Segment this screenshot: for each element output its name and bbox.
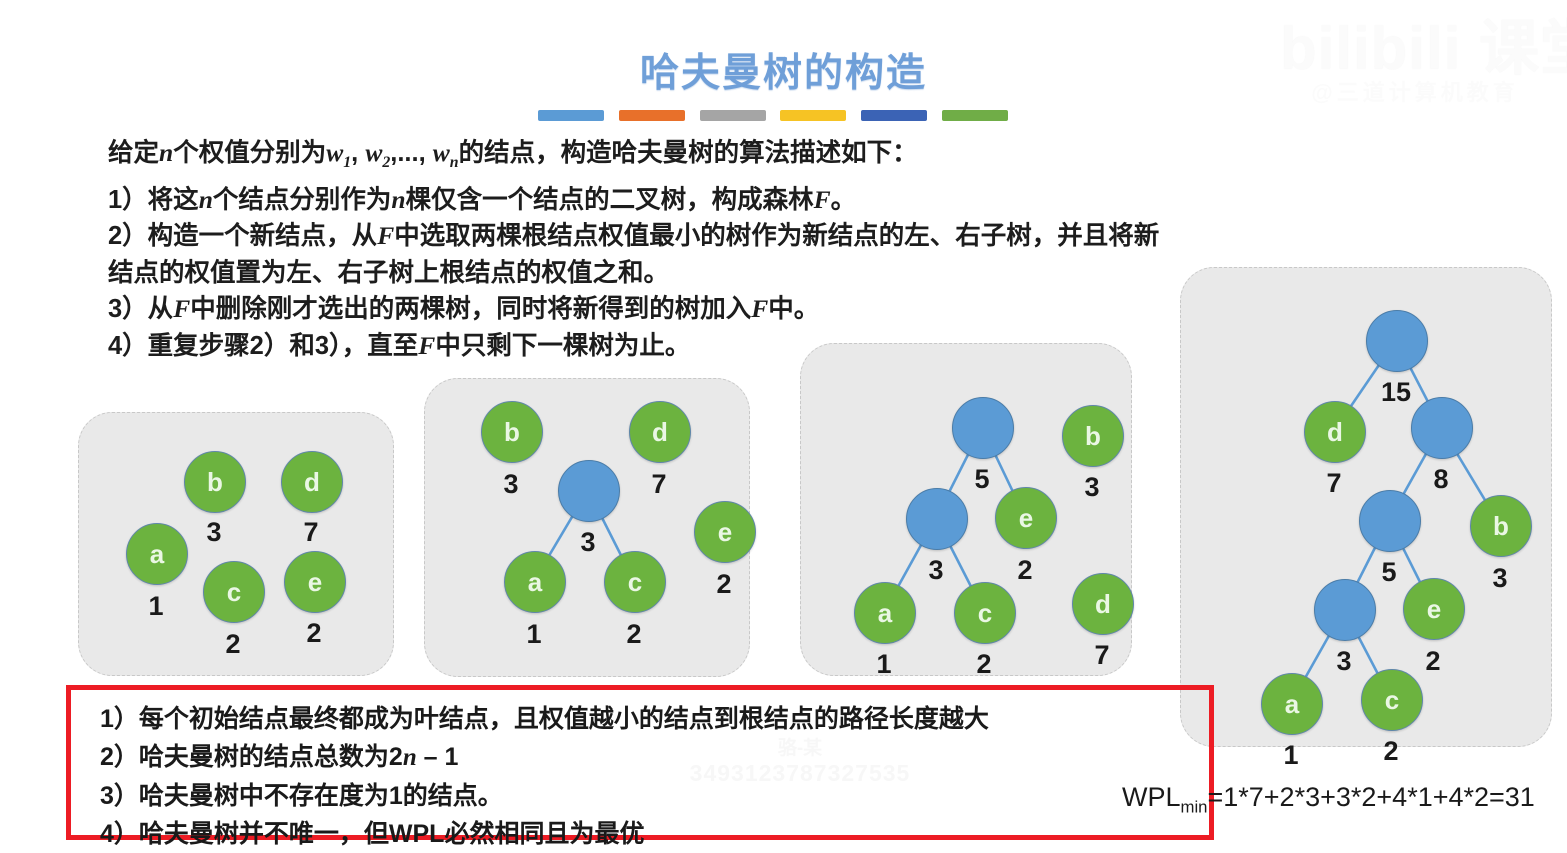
node-weight-label: 2 (606, 619, 662, 649)
tree-node-internal (1359, 490, 1421, 552)
node-weight-label: 7 (1074, 640, 1130, 670)
node-weight-label: 3 (560, 527, 616, 557)
conclusion-item-1: 1）每个初始结点最终都成为叶结点，且权值越小的结点到根结点的路径长度越大 (100, 700, 1220, 738)
node-weight-label: 7 (283, 517, 339, 547)
tree-panel-3: 5b33e2a1c2d7 (800, 343, 1132, 676)
accent-bar-3 (700, 110, 766, 121)
tree-node-internal (1314, 579, 1376, 641)
node-weight-label: 2 (1405, 646, 1461, 676)
conclusion-item-3: 3）哈夫曼树中不存在度为1的结点。 (100, 777, 1220, 815)
algorithm-step-1: 1）将这n个结点分别作为n棵仅含一个结点的二叉树，构成森林F。 (108, 182, 1428, 219)
wpl-formula: WPLmin=1*7+2*3+3*2+4*1+4*2=31 (1122, 782, 1535, 817)
tree-panel-4: 15d785b33e2a1c2 (1180, 267, 1552, 747)
node-weight-label: 1 (506, 619, 562, 649)
tree-node-a: a (1261, 673, 1323, 735)
tree-node-b: b (481, 401, 543, 463)
tree-node-internal (1366, 310, 1428, 372)
tree-node-e: e (995, 487, 1057, 549)
tree-node-a: a (126, 523, 188, 585)
tree-node-d: d (629, 401, 691, 463)
node-weight-label: 3 (483, 469, 539, 499)
wpl-expression: =1*7+2*3+3*2+4*1+4*2=31 (1207, 782, 1534, 812)
node-weight-label: 15 (1368, 377, 1424, 407)
tree-node-b: b (1470, 495, 1532, 557)
tree-node-d: d (281, 451, 343, 513)
node-weight-label: 5 (954, 464, 1010, 494)
tree-panel-2: b33d7e2a1c2 (424, 378, 750, 677)
tree-node-b: b (1062, 405, 1124, 467)
node-weight-label: 7 (631, 469, 687, 499)
tree-node-d: d (1072, 573, 1134, 635)
node-weight-label: 2 (696, 569, 752, 599)
slide-canvas: bilibili 课堂 @三道计算机教育 骆-某 349312378732753… (0, 0, 1567, 846)
node-weight-label: 3 (1064, 472, 1120, 502)
tree-node-internal (906, 488, 968, 550)
tree-node-e: e (284, 551, 346, 613)
accent-bar-1 (538, 110, 604, 121)
node-weight-label: 2 (286, 618, 342, 648)
tree-node-internal (952, 397, 1014, 459)
accent-bar-2 (619, 110, 685, 121)
page-title: 哈夫曼树的构造 (0, 42, 1567, 98)
tree-node-e: e (694, 501, 756, 563)
node-weight-label: 3 (1472, 563, 1528, 593)
node-weight-label: 2 (956, 649, 1012, 679)
node-weight-label: 5 (1361, 557, 1417, 587)
tree-node-c: c (203, 561, 265, 623)
accent-bar-group (538, 110, 1008, 122)
node-weight-label: 3 (908, 555, 964, 585)
tree-node-c: c (954, 582, 1016, 644)
tree-node-internal (558, 460, 620, 522)
tree-panel-1: a1b3c2d7e2 (78, 412, 394, 676)
node-weight-label: 7 (1306, 468, 1362, 498)
accent-bar-4 (780, 110, 846, 121)
node-weight-label: 1 (128, 591, 184, 621)
tree-node-c: c (604, 551, 666, 613)
tree-node-internal (1411, 397, 1473, 459)
conclusion-item-4: 4）哈夫曼树并不唯一，但WPL必然相同且为最优 (100, 815, 1220, 853)
node-weight-label: 3 (1316, 646, 1372, 676)
node-weight-label: 2 (1363, 736, 1419, 766)
tree-node-c: c (1361, 669, 1423, 731)
accent-bar-5 (861, 110, 927, 121)
algorithm-intro-line: 给定n个权值分别为w1, w2,..., wn的结点，构造哈夫曼树的算法描述如下… (108, 135, 1428, 182)
conclusion-list: 1）每个初始结点最终都成为叶结点，且权值越小的结点到根结点的路径长度越大 2）哈… (100, 700, 1220, 853)
tree-node-a: a (504, 551, 566, 613)
node-weight-label: 1 (1263, 740, 1319, 770)
node-weight-label: 1 (856, 649, 912, 679)
node-weight-label: 2 (997, 555, 1053, 585)
algorithm-step-2a: 2）构造一个新结点，从F中选取两棵根结点权值最小的树作为新结点的左、右子树，并且… (108, 218, 1428, 255)
accent-bar-6 (942, 110, 1008, 121)
wpl-subscript: min (1181, 797, 1208, 816)
conclusion-item-2: 2）哈夫曼树的结点总数为2n – 1 (100, 738, 1220, 777)
tree-node-b: b (184, 451, 246, 513)
tree-node-e: e (1403, 578, 1465, 640)
wpl-label: WPL (1122, 782, 1181, 812)
node-weight-label: 3 (186, 517, 242, 547)
tree-node-a: a (854, 582, 916, 644)
node-weight-label: 2 (205, 629, 261, 659)
node-weight-label: 8 (1413, 464, 1469, 494)
tree-node-d: d (1304, 401, 1366, 463)
